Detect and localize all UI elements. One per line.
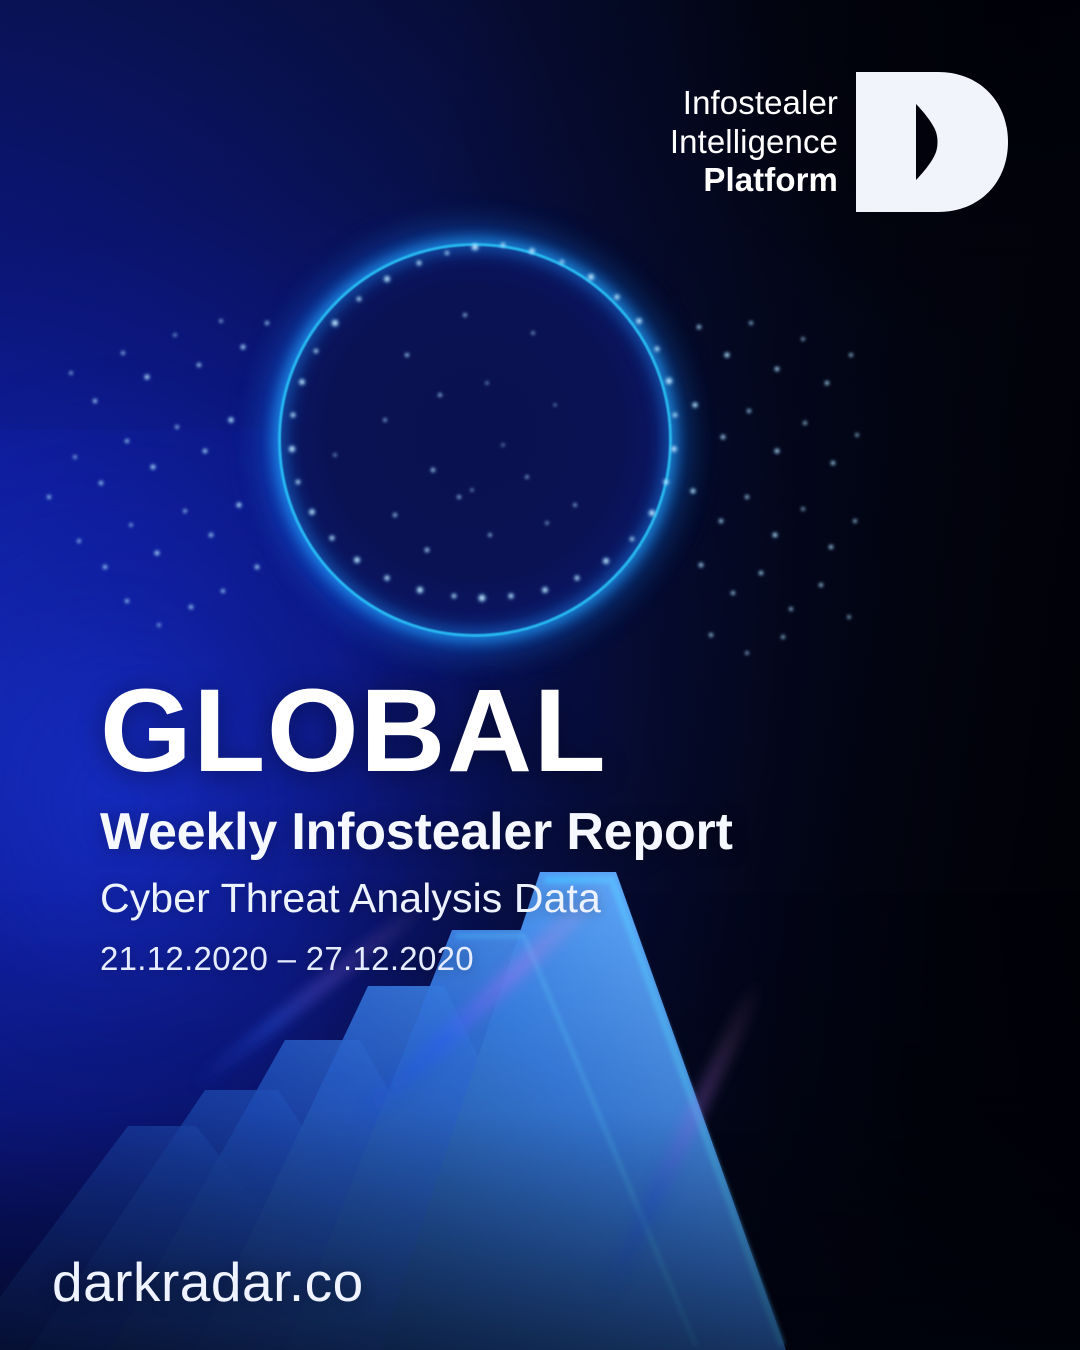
poster-canvas: Infostealer Intelligence Platform GLOBAL… <box>0 0 1080 1350</box>
brand-header: Infostealer Intelligence Platform <box>670 72 1008 212</box>
report-date-range: 21.12.2020 – 27.12.2020 <box>100 940 980 978</box>
page-title: GLOBAL <box>100 672 980 790</box>
title-block: GLOBAL Weekly Infostealer Report Cyber T… <box>100 672 980 978</box>
brand-tagline-line-1: Infostealer <box>670 84 838 123</box>
darkradar-d-arrow-logo-icon <box>854 72 1008 212</box>
brand-tagline-line-2: Intelligence <box>670 123 838 162</box>
brand-tagline: Infostealer Intelligence Platform <box>670 84 838 200</box>
page-subtitle: Weekly Infostealer Report <box>100 804 980 861</box>
brand-tagline-line-3: Platform <box>670 161 838 200</box>
page-tagline: Cyber Threat Analysis Data <box>100 875 980 922</box>
footer-website-url[interactable]: darkradar.co <box>52 1250 364 1314</box>
glowing-particle-sphere-icon <box>35 205 865 675</box>
